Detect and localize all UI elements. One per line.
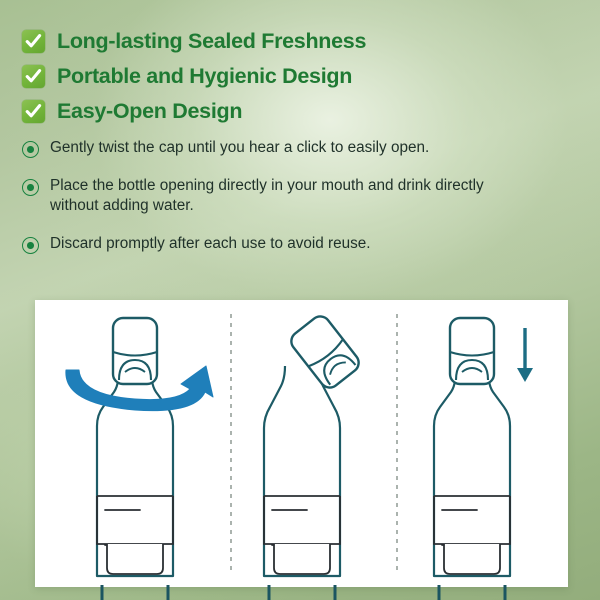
check-icon <box>22 30 45 53</box>
radio-dot-icon <box>22 141 39 158</box>
instruction-item: Gently twist the cap until you hear a cl… <box>22 138 532 158</box>
twist-cap-step <box>66 318 213 587</box>
check-icon <box>22 100 45 123</box>
instruction-text: Place the bottle opening directly in you… <box>50 176 520 216</box>
radio-dot-icon <box>22 237 39 254</box>
bottle-base <box>274 544 330 574</box>
check-icon <box>22 65 45 88</box>
feature-heading-item: Long-lasting Sealed Freshness <box>22 24 562 58</box>
feature-heading-list: Long-lasting Sealed Freshness Portable a… <box>22 24 562 129</box>
instruction-list: Gently twist the cap until you hear a cl… <box>22 138 532 272</box>
radio-dot-icon <box>22 179 39 196</box>
instruction-item: Discard promptly after each use to avoid… <box>22 234 532 254</box>
instruction-item: Place the bottle opening directly in you… <box>22 176 532 216</box>
feature-heading-label: Long-lasting Sealed Freshness <box>57 29 366 54</box>
press-cap-step <box>434 318 533 587</box>
feature-heading-label: Easy-Open Design <box>57 99 242 124</box>
remove-cap-step <box>264 312 363 587</box>
promo-image: Long-lasting Sealed Freshness Portable a… <box>0 0 600 600</box>
feature-heading-item: Easy-Open Design <box>22 94 562 128</box>
illustration-graphics <box>35 300 568 587</box>
illustration-panel <box>35 300 568 587</box>
feature-heading-item: Portable and Hygienic Design <box>22 59 562 93</box>
instruction-text: Gently twist the cap until you hear a cl… <box>50 138 429 158</box>
feature-heading-label: Portable and Hygienic Design <box>57 64 352 89</box>
bottle-base <box>444 544 500 574</box>
instruction-text: Discard promptly after each use to avoid… <box>50 234 371 254</box>
down-arrow-icon <box>517 328 533 382</box>
bottle-base <box>107 544 163 574</box>
